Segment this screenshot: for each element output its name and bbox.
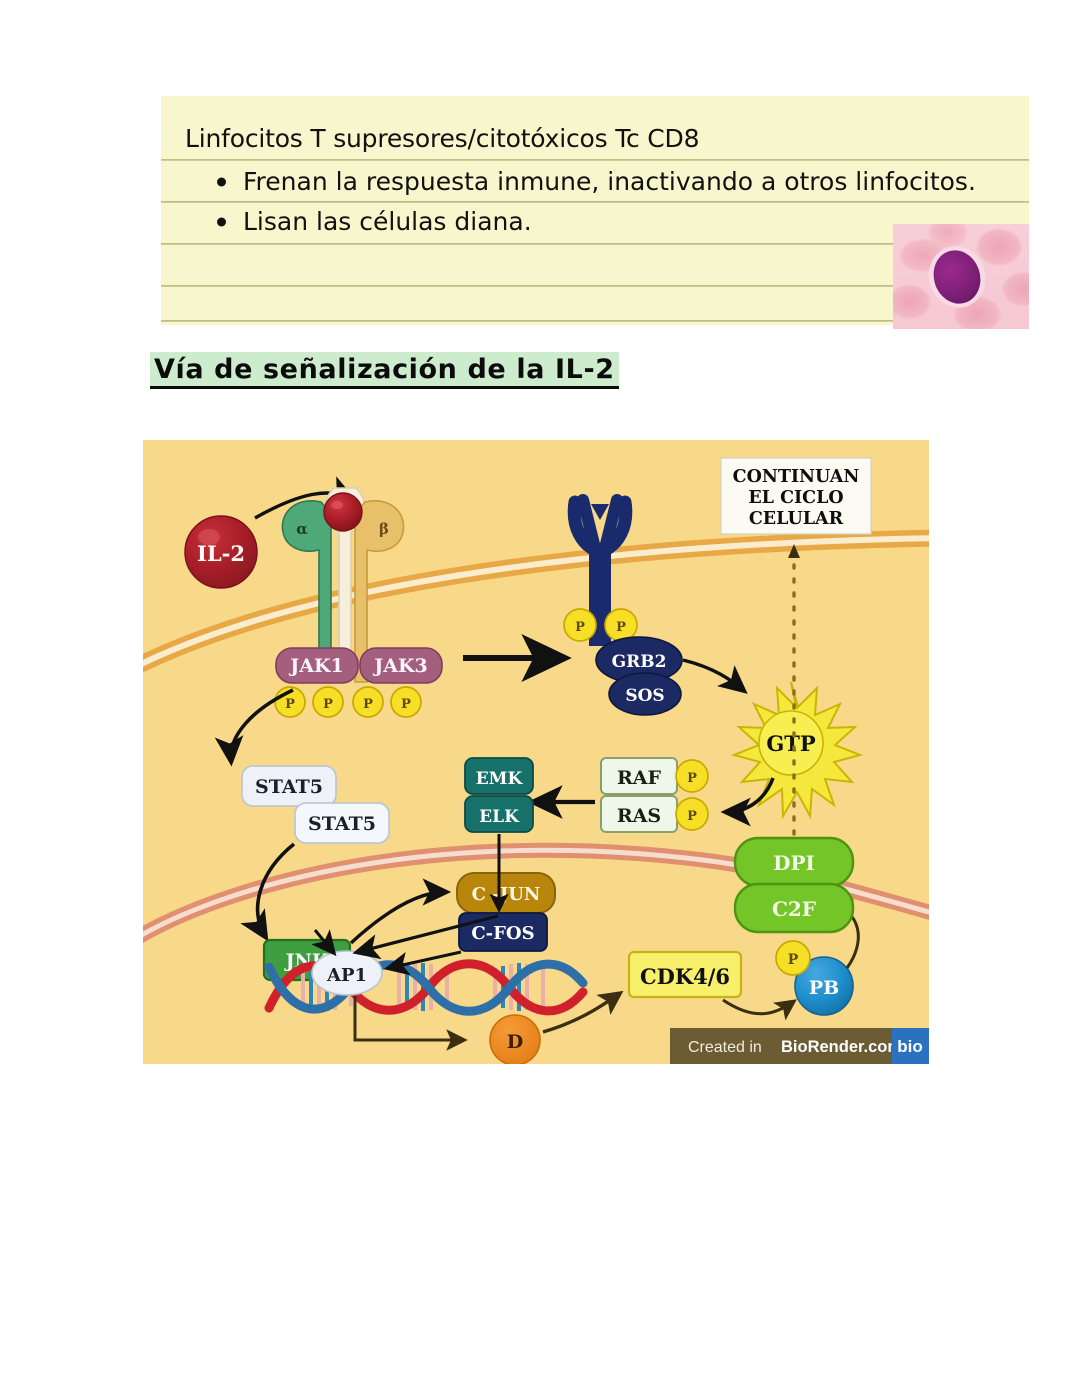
cjun-label: C -JUN (472, 884, 541, 905)
raf-label: RAF (617, 767, 662, 789)
document-page: Linfocitos T supresores/citotóxicos Tc C… (0, 0, 1080, 1397)
phosphate-icon: P (676, 760, 708, 792)
ras-node: RAS P (601, 796, 708, 832)
watermark-brand: BioRender.com (781, 1038, 902, 1056)
phosphate-label: P (323, 697, 333, 712)
dpi-label: DPI (773, 851, 815, 875)
dpi-node: DPI (735, 838, 853, 886)
receptor-beta-label: β (379, 520, 389, 538)
stat5-upper-node: STAT5 (242, 766, 336, 806)
gtp-label: GTP (766, 731, 816, 756)
cell-cycle-line-1: CONTINUAN (733, 467, 860, 487)
note-content: Linfocitos T supresores/citotóxicos Tc C… (185, 124, 1015, 242)
phosphate-label: P (401, 697, 411, 712)
note-bullet-text: Frenan la respuesta inmune, inactivando … (243, 167, 976, 196)
jak3-label: JAK3 (372, 655, 427, 677)
phosphate-label: P (687, 771, 697, 786)
cyclin-d-node: D (490, 1015, 540, 1064)
sos-label: SOS (625, 686, 664, 706)
c2f-node: C2F (735, 884, 853, 932)
ap1-node: AP1 (312, 951, 382, 995)
cell-cycle-line-2: EL CICLO (748, 488, 843, 508)
phosphate-icon: P (353, 687, 383, 717)
cell-cycle-line-3: CELULAR (749, 509, 844, 529)
note-bullet-item: Lisan las células diana. (185, 202, 1015, 242)
note-bullet-item: Frenan la respuesta inmune, inactivando … (185, 162, 1015, 202)
il2-ligand: IL-2 (185, 516, 257, 588)
note-bullet-text: Lisan las células diana. (243, 207, 532, 236)
cdk46-node: CDK4/6 (629, 952, 741, 997)
biorender-watermark: Created in BioRender.com bio (670, 1028, 929, 1064)
phosphate-label: P (363, 697, 373, 712)
cyclin-d-label: D (507, 1031, 523, 1053)
stat5-lower-node: STAT5 (295, 803, 389, 843)
phosphate-label: P (575, 620, 585, 635)
receptor-alpha-label: α (296, 520, 308, 538)
il2-signaling-pathway-diagram: IL-2 α β JAK1 (143, 440, 929, 1064)
bullet-dot-icon (217, 178, 226, 187)
grb2-label: GRB2 (612, 652, 667, 672)
pb-phosphate-icon: P (776, 941, 810, 975)
ap1-label: AP1 (326, 965, 367, 986)
phosphate-label: P (285, 697, 295, 712)
il2-ligand-label: IL-2 (197, 541, 245, 566)
note-title: Linfocitos T supresores/citotóxicos Tc C… (185, 124, 1015, 154)
stat5-upper-label: STAT5 (255, 776, 323, 798)
page-section-heading: Vía de señalización de la IL-2 (150, 352, 619, 389)
lymphocyte-micrograph-image (893, 224, 1029, 329)
note-bullet-list: Frenan la respuesta inmune, inactivando … (185, 162, 1015, 242)
c2f-label: C2F (772, 897, 816, 921)
emk-node: EMK (465, 758, 533, 794)
pb-label: PB (809, 977, 839, 999)
jak3-node: JAK3 (360, 648, 442, 683)
jak1-label: JAK1 (288, 655, 343, 677)
raf-node: RAF P (601, 758, 708, 794)
phosphate-icon: P (676, 798, 708, 830)
elk-node: ELK (465, 796, 533, 832)
cfos-node: C-FOS (459, 913, 547, 951)
cjun-node: C -JUN (457, 873, 555, 913)
jak1-node: JAK1 (276, 648, 358, 683)
cfos-label: C-FOS (471, 923, 534, 944)
phosphate-label: P (788, 952, 799, 968)
phosphate-icon: P (605, 609, 637, 641)
watermark-prefix: Created in (688, 1039, 762, 1056)
elk-label: ELK (479, 807, 520, 827)
phosphate-icon: P (564, 609, 596, 641)
phosphate-label: P (687, 809, 697, 824)
cell-cycle-box: CONTINUAN EL CICLO CELULAR (721, 458, 871, 534)
stat5-lower-label: STAT5 (308, 813, 376, 835)
watermark-badge: bio (897, 1037, 923, 1056)
phosphate-icon: P (391, 687, 421, 717)
phosphate-label: P (616, 620, 626, 635)
emk-label: EMK (476, 769, 524, 789)
ras-label: RAS (617, 805, 661, 827)
phosphate-icon: P (313, 687, 343, 717)
cdk46-label: CDK4/6 (640, 964, 730, 989)
bullet-dot-icon (217, 218, 226, 227)
